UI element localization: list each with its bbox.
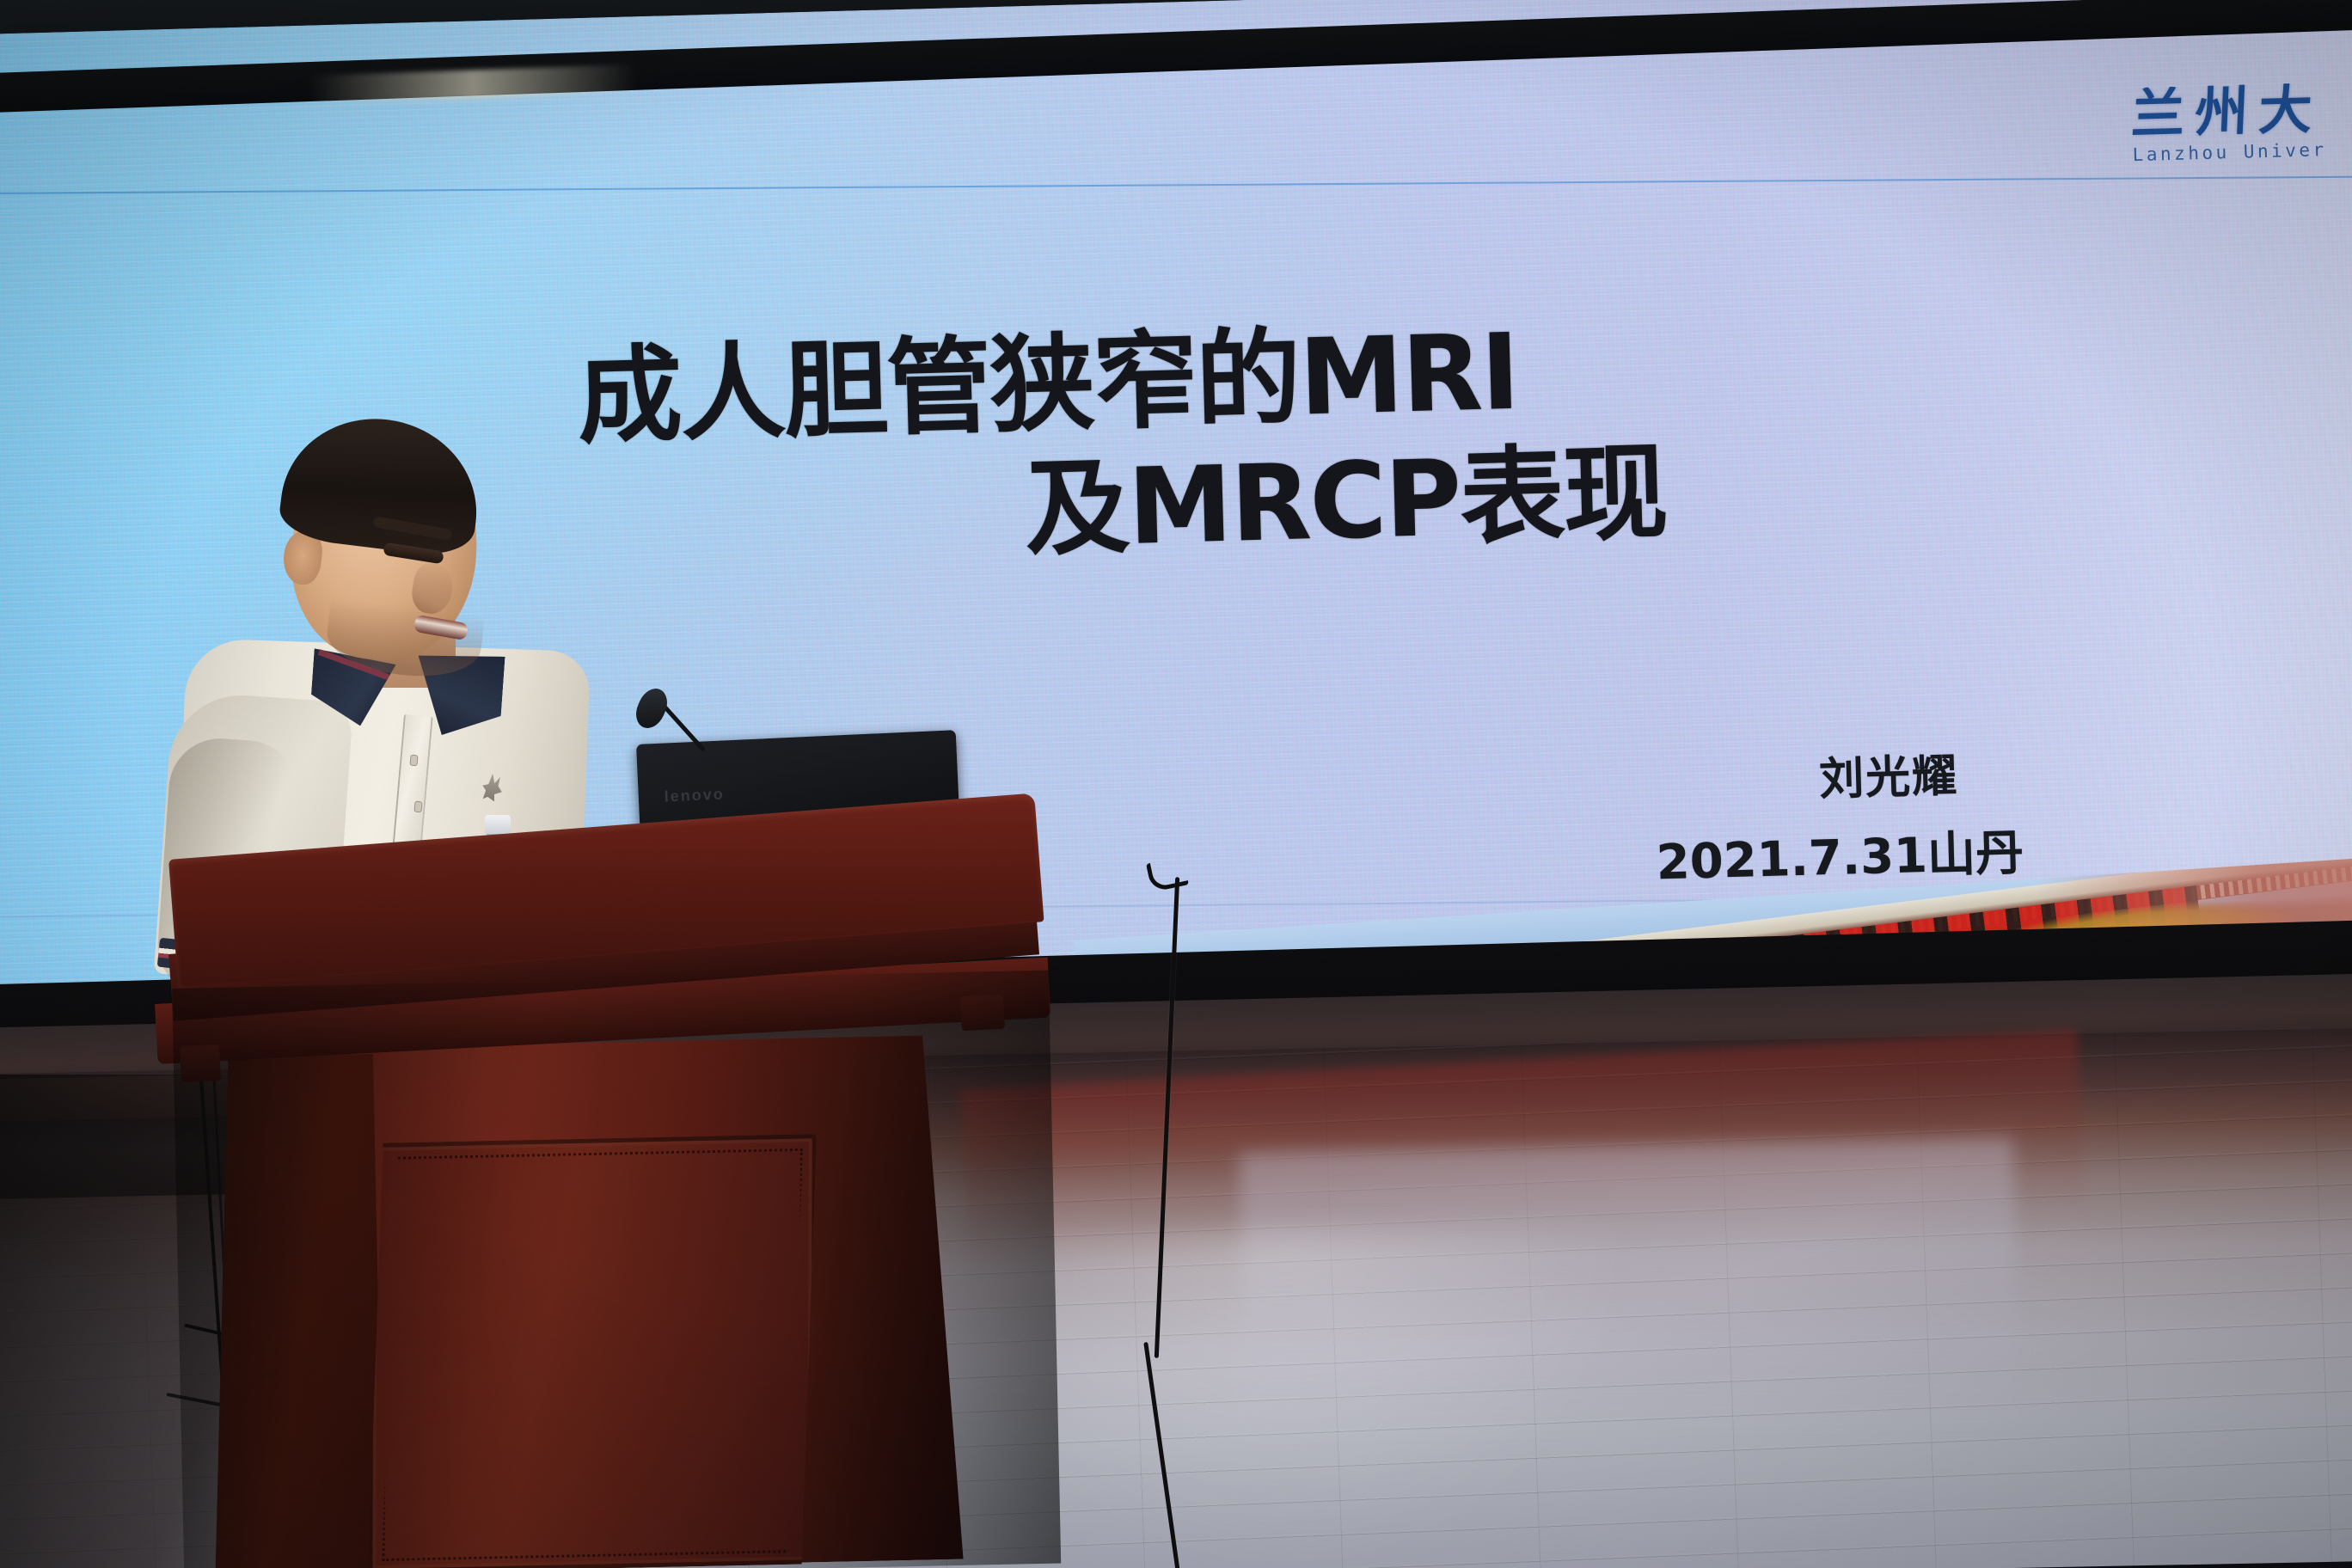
presentation-photo-scene: 成人胆管狭窄的MRI 及MRCP表现 刘光耀 2021.7.31山丹 兰州大 L…: [0, 0, 2352, 1568]
podium-side-column: [205, 1054, 384, 1568]
slide-title: 成人胆管狭窄的MRI 及MRCP表现: [576, 292, 2284, 583]
shirt-button: [409, 755, 418, 767]
bottle-cap: [485, 815, 511, 834]
floor-gloss: [940, 1223, 1635, 1568]
podium-side-nub: [180, 1044, 221, 1082]
shirt-button: [413, 801, 422, 813]
university-logo: 兰州大 Lanzhou Univer: [2131, 81, 2352, 191]
slide-author-block: 刘光耀 2021.7.31山丹: [1653, 734, 2138, 893]
slide-author-name: 刘光耀: [1653, 734, 2136, 812]
podium-panel-bead-trim: [382, 1148, 803, 1561]
university-logo-chinese: 兰州大: [2131, 81, 2352, 141]
laptop-brand-label: lenovo: [664, 785, 725, 805]
podium-side-nub: [960, 995, 1005, 1032]
